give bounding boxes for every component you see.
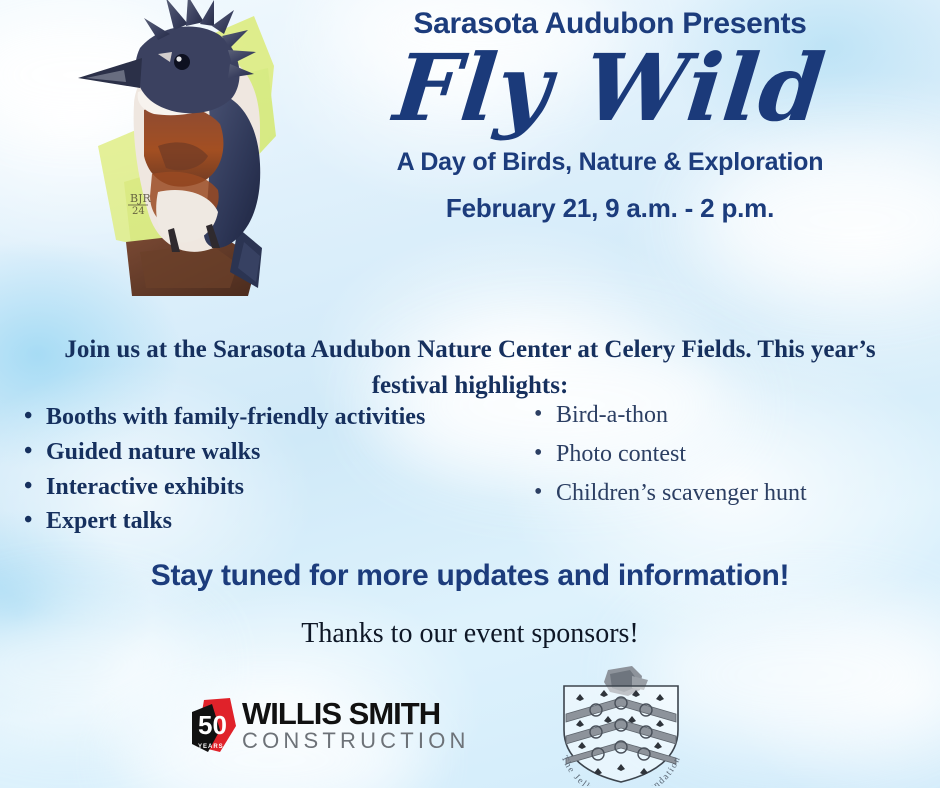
event-date: February 21, 9 a.m. - 2 p.m. <box>300 193 920 224</box>
list-item: Booths with family-friendly activities <box>18 400 518 435</box>
sponsor-logos: 50 YEARS WILLIS SMITH CONSTRUCTION <box>0 668 940 788</box>
tagline: A Day of Birds, Nature & Exploration <box>300 148 920 177</box>
highlights-right-column: Bird-a-thon Photo contest Children’s sca… <box>528 396 928 513</box>
sponsor-logo-willis-smith: 50 YEARS WILLIS SMITH CONSTRUCTION <box>190 698 465 756</box>
sponsor-logo-jelks-family-foundation: The Jelks Family Foundation The Jelks Fa… <box>536 664 706 786</box>
list-item: Photo contest <box>528 435 928 474</box>
willis-smith-wordmark: WILLIS SMITH CONSTRUCTION <box>242 698 462 754</box>
sponsor-name: WILLIS SMITH <box>242 698 462 729</box>
svg-text:24: 24 <box>132 206 145 217</box>
headline-block: Sarasota Audubon Presents Fly Wild A Day… <box>300 0 920 224</box>
intro-paragraph: Join us at the Sarasota Audubon Nature C… <box>30 332 910 403</box>
list-item: Children’s scavenger hunt <box>528 474 928 513</box>
sponsors-thanks: Thanks to our event sponsors! <box>0 618 940 650</box>
list-item: Guided nature walks <box>18 435 518 470</box>
list-item: Expert talks <box>18 504 518 539</box>
head <box>135 26 239 113</box>
svg-text:50: 50 <box>198 710 227 740</box>
stay-tuned-message: Stay tuned for more updates and informat… <box>0 559 940 593</box>
artist-signature: BJR <box>130 192 151 205</box>
sponsor-subtitle: CONSTRUCTION <box>242 729 462 754</box>
festival-highlights: Booths with family-friendly activities G… <box>0 400 940 550</box>
page-title: Fly Wild <box>295 42 925 134</box>
willis-smith-anniversary-mark: 50 YEARS <box>190 696 246 754</box>
svg-text:YEARS: YEARS <box>198 744 224 750</box>
list-item: Interactive exhibits <box>18 470 518 505</box>
event-flyer: BJR 24 Sarasota Audubon Presents Fly Wil… <box>0 0 940 788</box>
eye <box>174 54 190 70</box>
highlights-left-column: Booths with family-friendly activities G… <box>18 400 518 539</box>
belted-kingfisher-illustration: BJR 24 <box>62 0 312 308</box>
list-item: Bird-a-thon <box>528 396 928 435</box>
